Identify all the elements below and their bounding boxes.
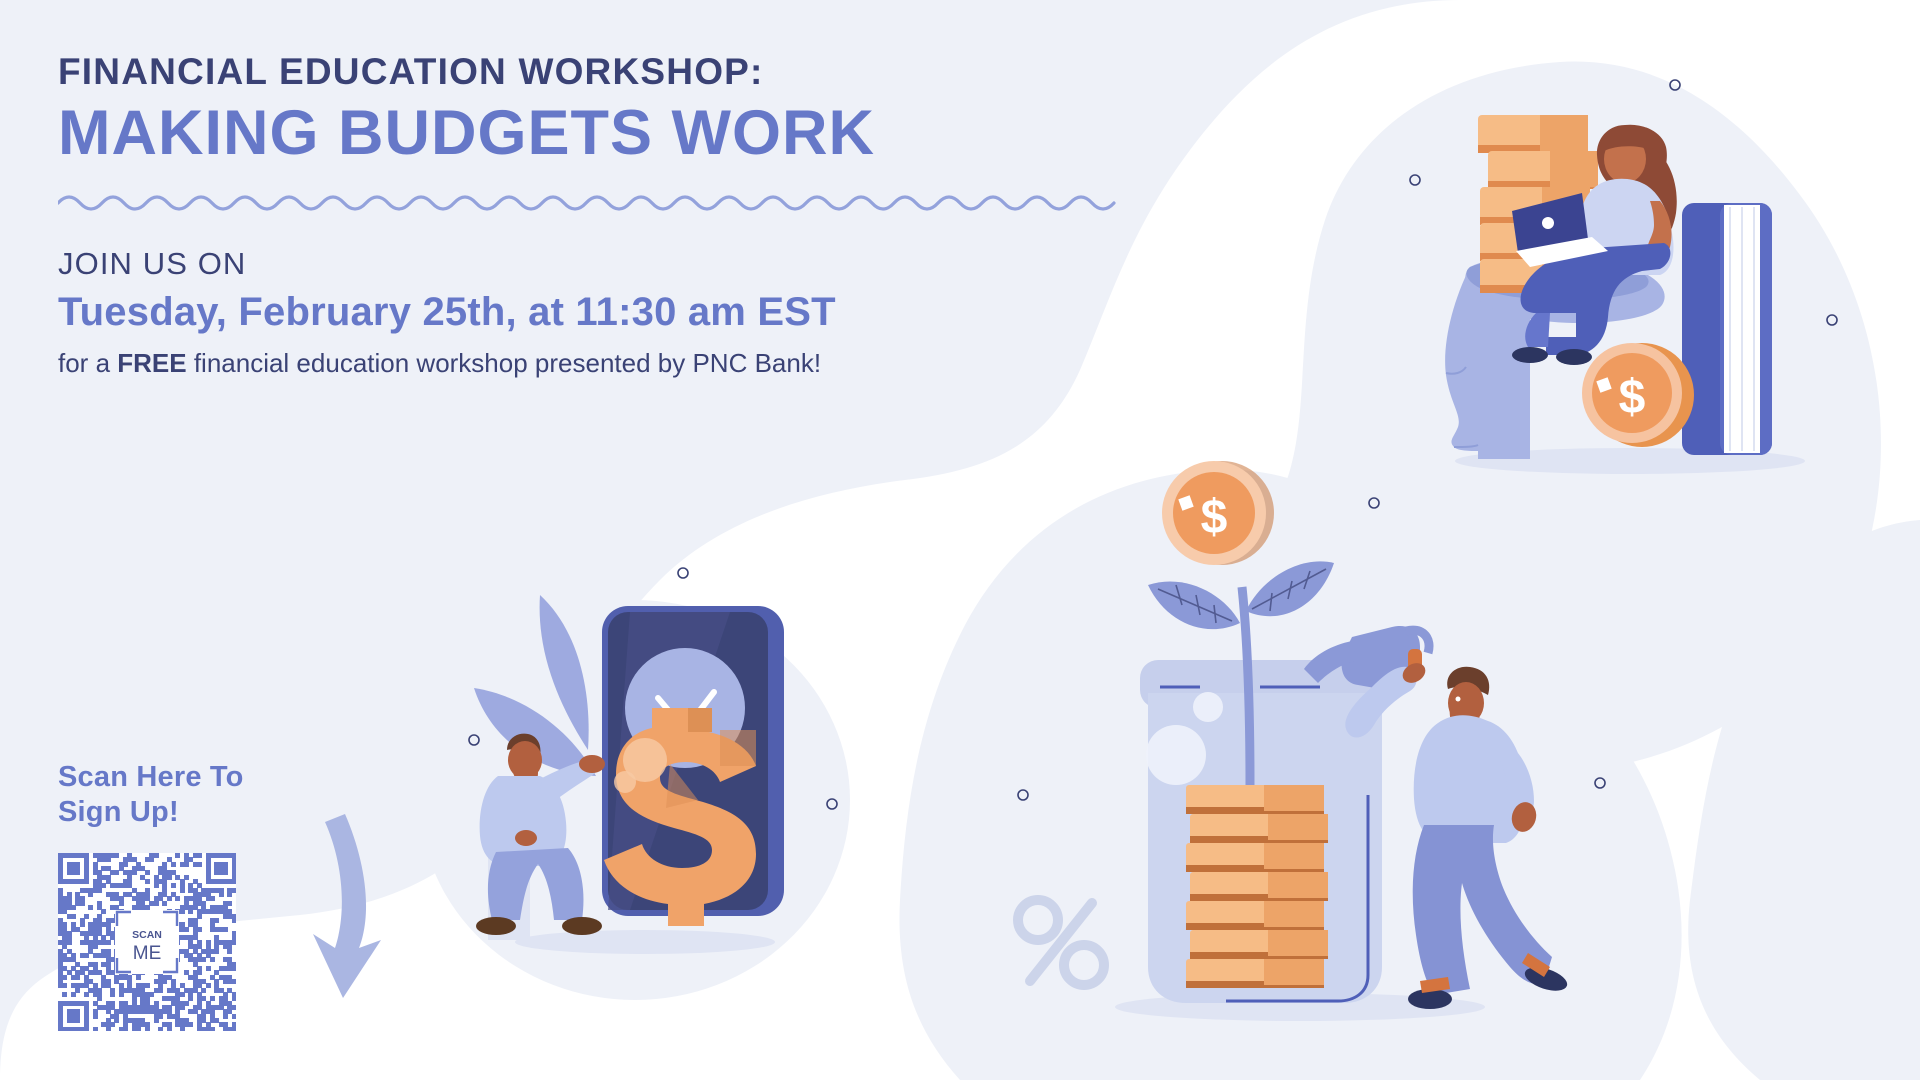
illustration-money-jar-plant: $ — [1000, 455, 1620, 1025]
ground-shadow — [515, 930, 775, 954]
decor-dot — [1369, 498, 1379, 508]
dollar-coin-flower: $ — [1162, 461, 1274, 565]
qr-me-text: ME — [133, 943, 162, 964]
qr-scan-text: SCAN — [132, 929, 162, 941]
shoe-left — [1408, 989, 1452, 1009]
dollar-coin: $ — [1582, 343, 1694, 447]
curved-arrow-down-left-icon — [273, 808, 393, 1008]
desc-emphasis: FREE — [117, 348, 186, 378]
decor-dot — [1595, 778, 1605, 788]
decor-dot — [469, 735, 479, 745]
svg-text:$: $ — [1201, 491, 1228, 544]
hand — [579, 755, 605, 773]
man-sitting — [476, 734, 605, 940]
poster-canvas: FINANCIAL EDUCATION WORKSHOP: MAKING BUD… — [0, 0, 1920, 1080]
decor-dot — [1410, 175, 1420, 185]
shoe-front — [1556, 349, 1592, 365]
scan-title-line1: Scan Here To — [58, 761, 244, 793]
credit-card — [1682, 203, 1772, 455]
shoe-left — [476, 917, 516, 935]
event-date-time: Tuesday, February 25th, at 11:30 am EST — [58, 289, 1158, 335]
join-us-label: JOIN US ON — [58, 247, 1158, 281]
eyebrow-text: FINANCIAL EDUCATION WORKSHOP: — [58, 52, 1158, 93]
eye — [1456, 697, 1461, 702]
desc-suffix: financial education workshop presented b… — [187, 348, 821, 378]
scan-title-line2: Sign Up! — [58, 796, 179, 828]
decor-dot — [1670, 80, 1680, 90]
decor-dot — [678, 568, 688, 578]
decor-dot — [827, 799, 837, 809]
event-description: for a FREE financial education workshop … — [58, 347, 1158, 380]
shoe-back — [1512, 347, 1548, 363]
legs — [488, 848, 584, 920]
decor-dot — [1827, 315, 1837, 325]
hand-rest — [515, 830, 537, 846]
headline-block: FINANCIAL EDUCATION WORKSHOP: MAKING BUD… — [58, 52, 1158, 379]
page-title: MAKING BUDGETS WORK — [58, 99, 1158, 167]
qr-code[interactable]: SCAN ME — [58, 853, 236, 1031]
desc-prefix: for a — [58, 348, 117, 378]
wavy-divider — [58, 191, 1126, 213]
shoe-right — [562, 917, 602, 935]
laptop-logo — [1542, 217, 1554, 229]
percent-symbol — [1018, 900, 1104, 985]
coin-stack — [1186, 785, 1328, 988]
svg-text:$: $ — [1619, 371, 1646, 424]
qr-scan-me-badge: SCAN ME — [115, 910, 179, 974]
decor-dot — [1018, 790, 1028, 800]
illustration-head-coins-credit-card: $ — [1330, 55, 1900, 475]
illustration-phone-dollar — [430, 560, 850, 965]
signup-block: Scan Here To Sign Up! SCAN ME — [58, 760, 338, 1031]
